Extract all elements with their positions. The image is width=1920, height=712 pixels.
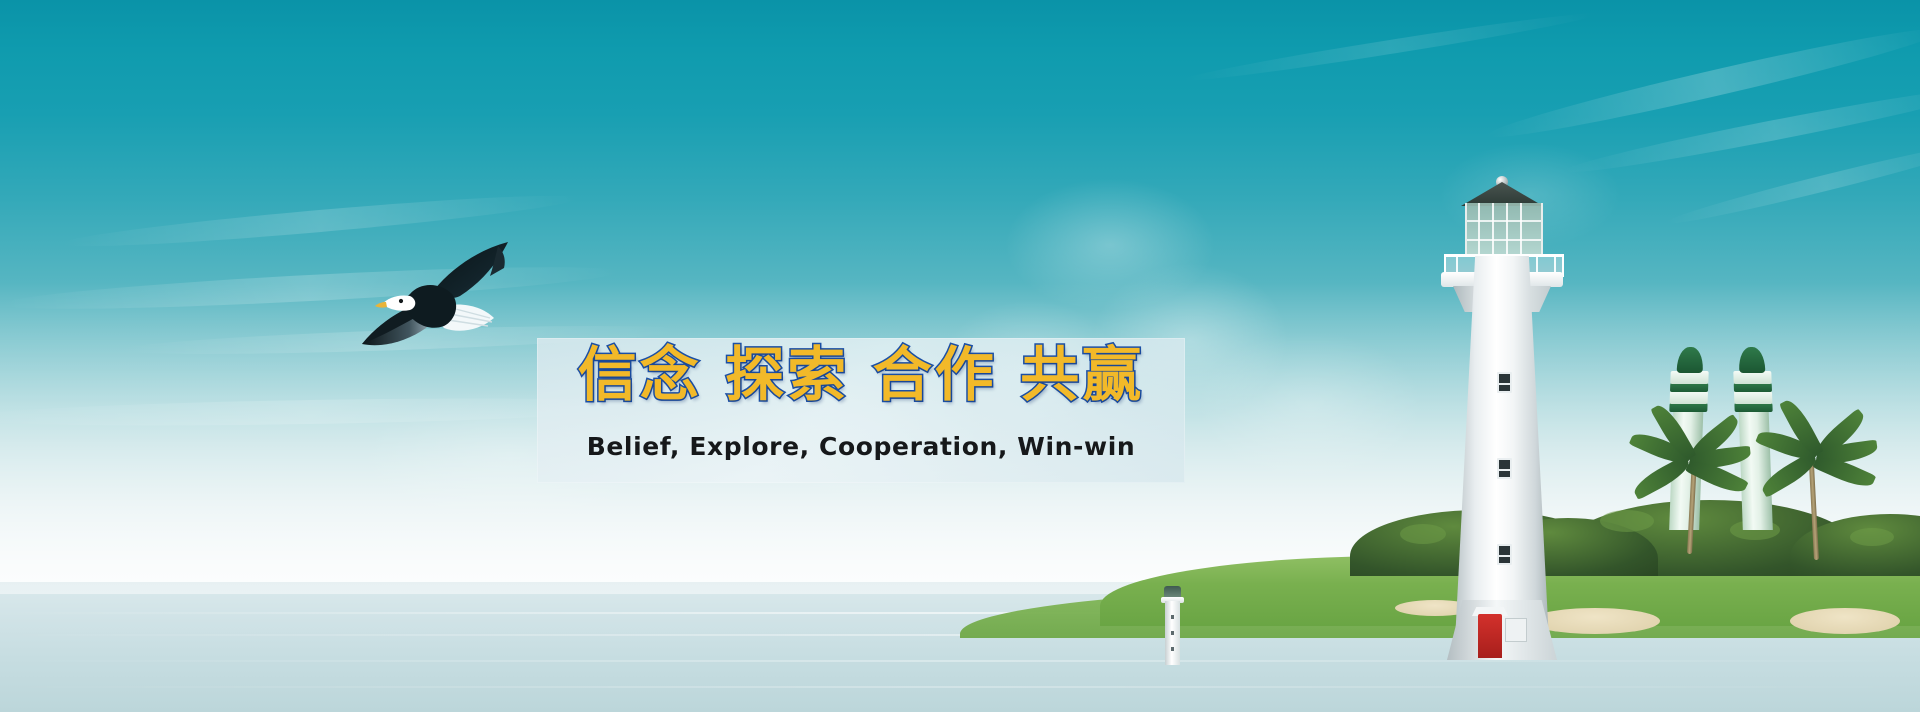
water-ripple	[0, 686, 1920, 688]
lighthouse-lantern-room	[1465, 203, 1543, 257]
eagle	[348, 238, 516, 380]
lighthouse-door	[1478, 614, 1502, 658]
subline-english: Belief, Explore, Cooperation, Win-win	[537, 432, 1185, 461]
lantern-mullion	[1478, 203, 1480, 257]
mini-lighthouse-window	[1171, 615, 1174, 619]
tower-band	[1670, 403, 1708, 412]
tower-band	[1734, 383, 1772, 392]
headline-chinese: 信念 探索 合作 共赢	[537, 342, 1185, 408]
tower-gallery	[1669, 391, 1708, 404]
lantern-ring	[1467, 220, 1541, 222]
mini-lighthouse-window	[1171, 631, 1174, 635]
lighthouse-window	[1497, 458, 1512, 479]
lighthouse-plaque	[1505, 618, 1527, 642]
banner-hero: 信念 探索 合作 共赢 Belief, Explore, Cooperation…	[0, 0, 1920, 712]
sand-bunker	[1790, 608, 1900, 634]
lighthouse-window	[1497, 372, 1512, 393]
mini-lighthouse-window	[1171, 647, 1174, 651]
lantern-mullion	[1506, 203, 1508, 257]
lighthouse-window	[1497, 544, 1512, 565]
slogan-panel: 信念 探索 合作 共赢 Belief, Explore, Cooperation…	[537, 338, 1185, 483]
lantern-mullion	[1520, 203, 1522, 257]
water-ripple	[0, 660, 1920, 662]
tower-band	[1735, 403, 1773, 412]
tower-shaft	[1739, 408, 1773, 530]
lantern-ring	[1467, 239, 1541, 241]
lighthouse	[1427, 176, 1577, 660]
tower-band	[1670, 383, 1708, 392]
palm-trunk	[1809, 456, 1819, 560]
tower-gallery	[1734, 391, 1773, 404]
lantern-mullion	[1492, 203, 1494, 257]
palm-tree-right	[1770, 422, 1866, 560]
mini-lighthouse	[1155, 583, 1189, 665]
palm-tree-left	[1645, 424, 1735, 554]
